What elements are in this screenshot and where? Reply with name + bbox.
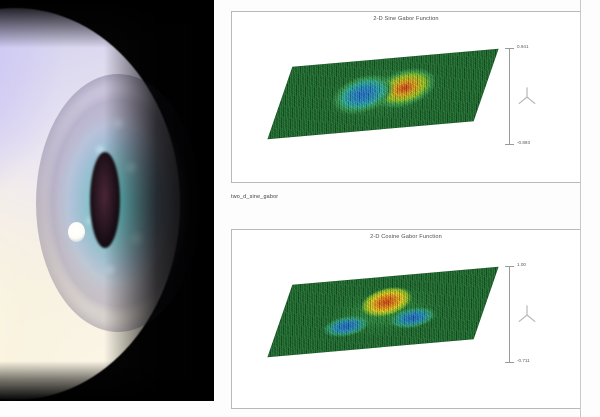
gabor-surface-cosine: [268, 267, 498, 357]
column-rule: [580, 0, 581, 417]
colorbar-max-label: 1.00: [517, 262, 526, 267]
colorbar-cosine: 1.00 -0.711: [500, 256, 558, 376]
photo-top-vignette: [0, 0, 214, 48]
page-canvas: 2-D Sine Gabor Function 0.941 -0.893: [0, 0, 600, 417]
plot-area-sine: 0.941 -0.893: [232, 22, 580, 180]
colorbar-tick-min: [505, 362, 514, 363]
colorbar-min-label: -0.893: [517, 140, 530, 145]
figure-panel-cosine-gabor: 2-D Cosine Gabor Function 1.00 -0.711: [231, 229, 581, 409]
figure-title-cosine: 2-D Cosine Gabor Function: [232, 230, 580, 240]
colorbar-tick-min: [505, 144, 514, 145]
photo-right-vignette: [104, 0, 214, 401]
colorbar-axis-line: [509, 266, 510, 362]
specular-highlight: [68, 222, 85, 242]
colorbar-min-label: -0.711: [517, 358, 530, 363]
colorbar-tick-max: [505, 48, 514, 49]
colorbar-axis-line: [509, 48, 510, 144]
photo-bottom-vignette: [0, 361, 214, 401]
figure-title-sine: 2-D Sine Gabor Function: [232, 12, 580, 22]
gabor-surface-sine: [268, 49, 498, 139]
axes-triad-icon: [516, 304, 538, 326]
figure-panel-sine-gabor: 2-D Sine Gabor Function 0.941 -0.893: [231, 11, 581, 183]
figure-caption-sine: two_d_sine_gabor: [231, 194, 278, 200]
colorbar-tick-max: [505, 266, 514, 267]
colorbar-max-label: 0.941: [517, 44, 529, 49]
eye-macro-photograph: [0, 0, 214, 401]
colorbar-sine: 0.941 -0.893: [500, 38, 558, 158]
figure-column: 2-D Sine Gabor Function 0.941 -0.893: [226, 0, 600, 417]
plot-area-cosine: 1.00 -0.711: [232, 240, 580, 406]
axes-triad-icon: [516, 86, 538, 108]
